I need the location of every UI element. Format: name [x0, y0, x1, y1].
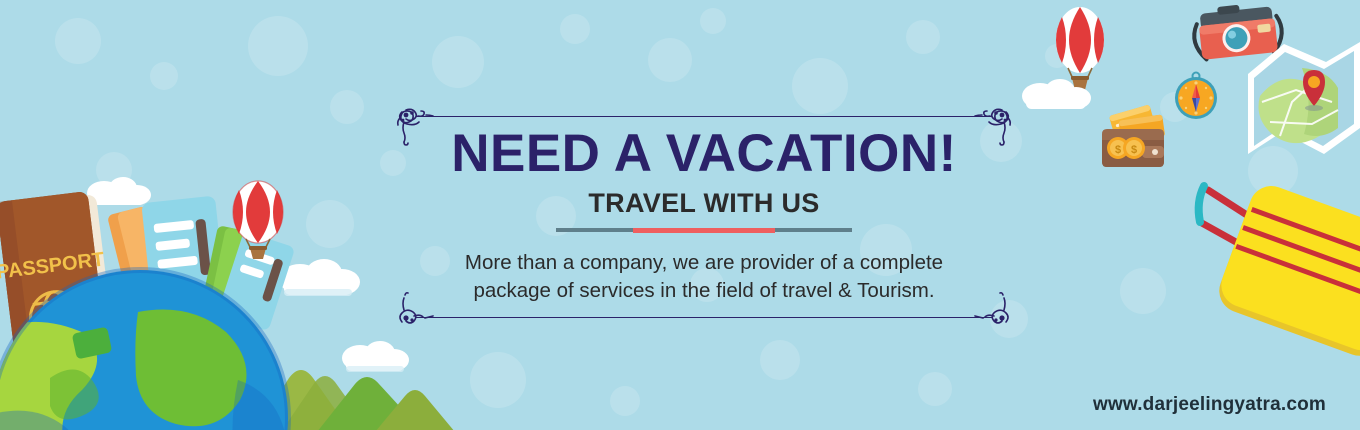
bokeh-circle [648, 38, 692, 82]
headline-block: NEED A VACATION! TRAVEL WITH US More tha… [392, 104, 1016, 326]
svg-text:$: $ [1131, 144, 1137, 156]
bokeh-circle [906, 20, 940, 54]
hot-air-balloon-icon [228, 180, 288, 262]
globe-icon [0, 268, 290, 430]
description-text: More than a company, we are provider of … [465, 249, 943, 306]
bokeh-circle [560, 14, 590, 44]
svg-text:$: $ [1115, 144, 1121, 156]
map-icon [1240, 40, 1360, 160]
bokeh-circle [150, 62, 178, 90]
bokeh-circle [248, 16, 308, 76]
cloud-icon [1016, 78, 1096, 112]
title-divider [556, 228, 852, 232]
website-url[interactable]: www.darjeelingyatra.com [1093, 394, 1326, 416]
suitcase-icon [1194, 168, 1360, 368]
travel-promo-banner: PASSPORT [0, 0, 1360, 430]
wallet-icon: $ $ [1098, 108, 1178, 172]
bokeh-circle [306, 200, 354, 248]
page-title: NEED A VACATION! [451, 126, 957, 182]
bokeh-circle [918, 372, 952, 406]
bokeh-circle [760, 340, 800, 380]
bokeh-circle [700, 8, 726, 34]
description-line-1: More than a company, we are provider of … [465, 249, 943, 277]
subtitle: TRAVEL WITH US [588, 188, 819, 219]
description-line-2: package of services in the field of trav… [465, 277, 943, 305]
divider-accent [633, 228, 775, 233]
bokeh-circle [55, 18, 101, 64]
bokeh-circle [330, 90, 364, 124]
bokeh-circle [610, 386, 640, 416]
bokeh-circle [1120, 268, 1166, 314]
cloud-icon [336, 340, 414, 374]
bokeh-circle [432, 36, 484, 88]
